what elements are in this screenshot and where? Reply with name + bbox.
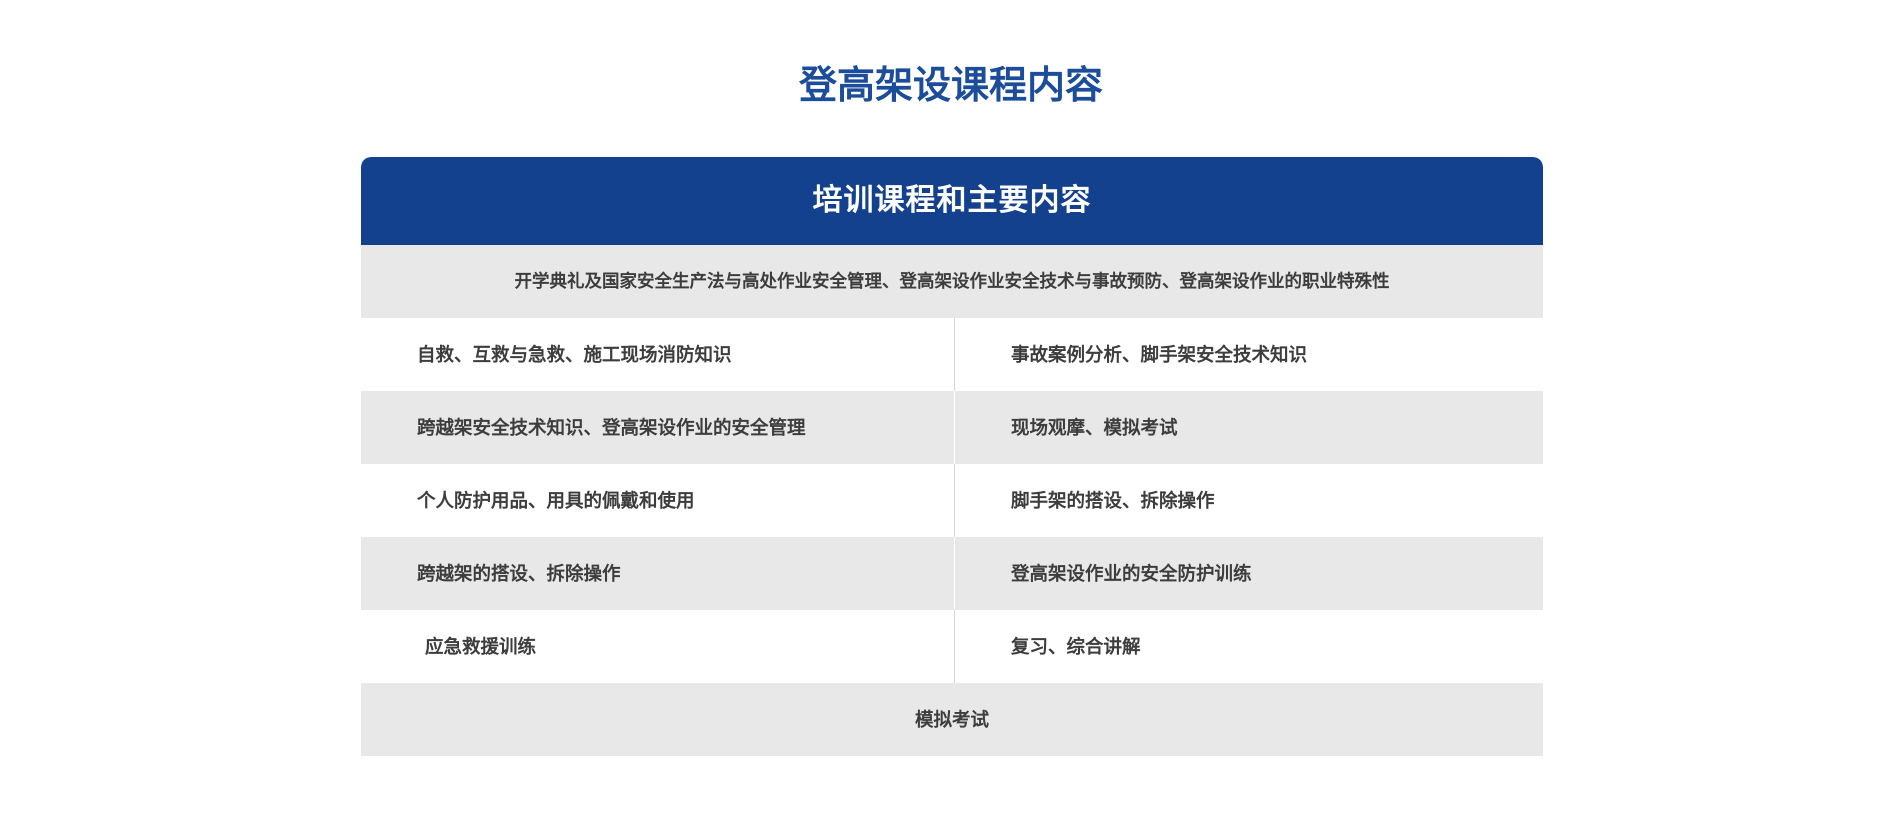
table-row: 跨越架的搭设、拆除操作 登高架设作业的安全防护训练 [361, 537, 1543, 610]
table-cell-left: 跨越架安全技术知识、登高架设作业的安全管理 [361, 391, 955, 464]
table-cell-right: 现场观摩、模拟考试 [955, 391, 1543, 464]
table-cell-left: 跨越架的搭设、拆除操作 [361, 537, 955, 610]
table-cell-left: 自救、互救与急救、施工现场消防知识 [361, 318, 955, 391]
table-cell-right: 脚手架的搭设、拆除操作 [955, 464, 1543, 537]
table-cell-full: 开学典礼及国家安全生产法与高处作业安全管理、登高架设作业安全技术与事故预防、登高… [361, 245, 1543, 318]
table-header-title: 培训课程和主要内容 [813, 186, 1092, 216]
course-content-page: 登高架设课程内容 培训课程和主要内容 开学典礼及国家安全生产法与高处作业安全管理… [0, 0, 1902, 813]
table-header: 培训课程和主要内容 [361, 157, 1543, 245]
table-row: 应急救援训练 复习、综合讲解 [361, 610, 1543, 683]
table-cell-right: 复习、综合讲解 [955, 610, 1543, 683]
table-cell-full: 模拟考试 [361, 683, 1543, 756]
table-row: 自救、互救与急救、施工现场消防知识 事故案例分析、脚手架安全技术知识 [361, 318, 1543, 391]
table-cell-left: 个人防护用品、用具的佩戴和使用 [361, 464, 955, 537]
table-row: 跨越架安全技术知识、登高架设作业的安全管理 现场观摩、模拟考试 [361, 391, 1543, 464]
table-body: 开学典礼及国家安全生产法与高处作业安全管理、登高架设作业安全技术与事故预防、登高… [361, 245, 1543, 756]
course-content-table: 培训课程和主要内容 开学典礼及国家安全生产法与高处作业安全管理、登高架设作业安全… [361, 157, 1543, 756]
table-row: 开学典礼及国家安全生产法与高处作业安全管理、登高架设作业安全技术与事故预防、登高… [361, 245, 1543, 318]
table-cell-left: 应急救援训练 [361, 610, 955, 683]
table-row: 模拟考试 [361, 683, 1543, 756]
table-row: 个人防护用品、用具的佩戴和使用 脚手架的搭设、拆除操作 [361, 464, 1543, 537]
page-title: 登高架设课程内容 [0, 60, 1902, 112]
table-cell-right: 事故案例分析、脚手架安全技术知识 [955, 318, 1543, 391]
table-cell-right: 登高架设作业的安全防护训练 [955, 537, 1543, 610]
